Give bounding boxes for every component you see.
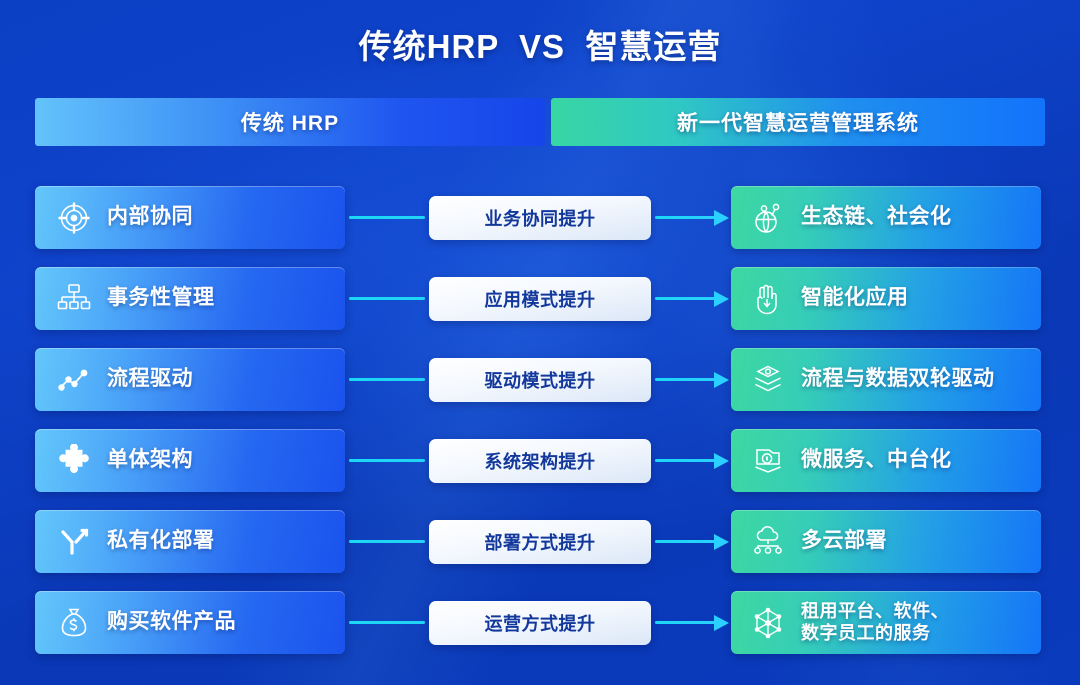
connector-line: [345, 348, 429, 411]
connector-line: [345, 510, 429, 573]
connector-line: [345, 186, 429, 249]
connector-arrow: [651, 429, 731, 492]
arrow-head-icon: [714, 210, 729, 226]
improvement-pill-label: 业务协同提升: [485, 205, 596, 231]
modern-card[interactable]: 租用平台、软件、 数字员工的服务: [731, 591, 1041, 654]
modern-card[interactable]: 多云部署: [731, 510, 1041, 573]
legacy-card[interactable]: 私有化部署: [35, 510, 345, 573]
modern-card[interactable]: 微服务、中台化: [731, 429, 1041, 492]
network-hub-icon: [751, 606, 785, 640]
modern-card[interactable]: 生态链、社会化: [731, 186, 1041, 249]
legacy-card[interactable]: 单体架构: [35, 429, 345, 492]
connector-line: [345, 429, 429, 492]
ai-hand-icon: [751, 282, 785, 316]
connector-line: [345, 267, 429, 330]
arrow-head-icon: [714, 372, 729, 388]
modern-card-label: 租用平台、软件、 数字员工的服务: [801, 601, 949, 644]
legacy-card[interactable]: 购买软件产品: [35, 591, 345, 654]
improvement-pill[interactable]: 应用模式提升: [429, 277, 651, 321]
legacy-card[interactable]: 流程驱动: [35, 348, 345, 411]
comparison-row: 购买软件产品 运营方式提升: [35, 591, 1045, 654]
connector-arrow: [651, 591, 731, 654]
layered-gear-icon: [751, 363, 785, 397]
connector-arrow: [651, 348, 731, 411]
improvement-pill[interactable]: 部署方式提升: [429, 520, 651, 564]
improvement-pill-label: 部署方式提升: [485, 529, 596, 555]
improvement-pill[interactable]: 驱动模式提升: [429, 358, 651, 402]
cloud-nodes-icon: [751, 525, 785, 559]
modern-card-label: 多云部署: [801, 529, 887, 553]
comparison-row: 流程驱动 驱动模式提升 流程与数据双轮驱动: [35, 348, 1045, 411]
node-graph-icon: [57, 363, 91, 397]
improvement-pill-label: 系统架构提升: [485, 448, 596, 474]
improvement-pill[interactable]: 业务协同提升: [429, 196, 651, 240]
arrow-head-icon: [714, 453, 729, 469]
slide-canvas: 传统HRP VS 智慧运营 传统 HRP 新一代智慧运营管理系统 内部协同 业务…: [0, 0, 1080, 685]
comparison-row: 单体架构 系统架构提升 微服务、中台化: [35, 429, 1045, 492]
improvement-pill[interactable]: 运营方式提升: [429, 601, 651, 645]
improvement-pill-label: 驱动模式提升: [485, 367, 596, 393]
modern-card-label: 生态链、社会化: [801, 205, 952, 229]
improvement-pill-label: 运营方式提升: [485, 610, 596, 636]
legacy-card[interactable]: 内部协同: [35, 186, 345, 249]
column-headers: 传统 HRP 新一代智慧运营管理系统: [35, 98, 1045, 146]
legacy-card-label: 购买软件产品: [107, 610, 236, 634]
legacy-card-label: 流程驱动: [107, 367, 193, 391]
connector-arrow: [651, 186, 731, 249]
connector-line: [345, 591, 429, 654]
legacy-card-label: 私有化部署: [107, 529, 215, 553]
page-title: 传统HRP VS 智慧运营: [0, 20, 1080, 68]
header-smart-operations: 新一代智慧运营管理系统: [551, 98, 1045, 146]
money-bag-icon: [57, 606, 91, 640]
puzzle-piece-icon: [57, 444, 91, 478]
connector-arrow: [651, 510, 731, 573]
shield-stack-icon: [751, 444, 785, 478]
improvement-pill-label: 应用模式提升: [485, 286, 596, 312]
globe-network-icon: [751, 201, 785, 235]
comparison-row: 事务性管理 应用模式提升 智能化应用: [35, 267, 1045, 330]
modern-card-label: 流程与数据双轮驱动: [801, 367, 995, 391]
header-traditional-hrp: 传统 HRP: [35, 98, 545, 146]
legacy-card-label: 事务性管理: [107, 286, 215, 310]
improvement-pill[interactable]: 系统架构提升: [429, 439, 651, 483]
connector-arrow: [651, 267, 731, 330]
modern-card-label: 智能化应用: [801, 286, 909, 310]
arrow-head-icon: [714, 615, 729, 631]
comparison-rows: 内部协同 业务协同提升 生态链、社会化: [35, 186, 1045, 672]
arrow-head-icon: [714, 291, 729, 307]
comparison-row: 内部协同 业务协同提升 生态链、社会化: [35, 186, 1045, 249]
comparison-row: 私有化部署 部署方式提升 多云部署: [35, 510, 1045, 573]
modern-card-label: 微服务、中台化: [801, 448, 952, 472]
legacy-card-label: 单体架构: [107, 448, 193, 472]
org-chart-icon: [57, 282, 91, 316]
legacy-card-label: 内部协同: [107, 205, 193, 229]
target-icon: [57, 201, 91, 235]
branch-y-icon: [57, 525, 91, 559]
modern-card[interactable]: 智能化应用: [731, 267, 1041, 330]
legacy-card[interactable]: 事务性管理: [35, 267, 345, 330]
modern-card[interactable]: 流程与数据双轮驱动: [731, 348, 1041, 411]
arrow-head-icon: [714, 534, 729, 550]
